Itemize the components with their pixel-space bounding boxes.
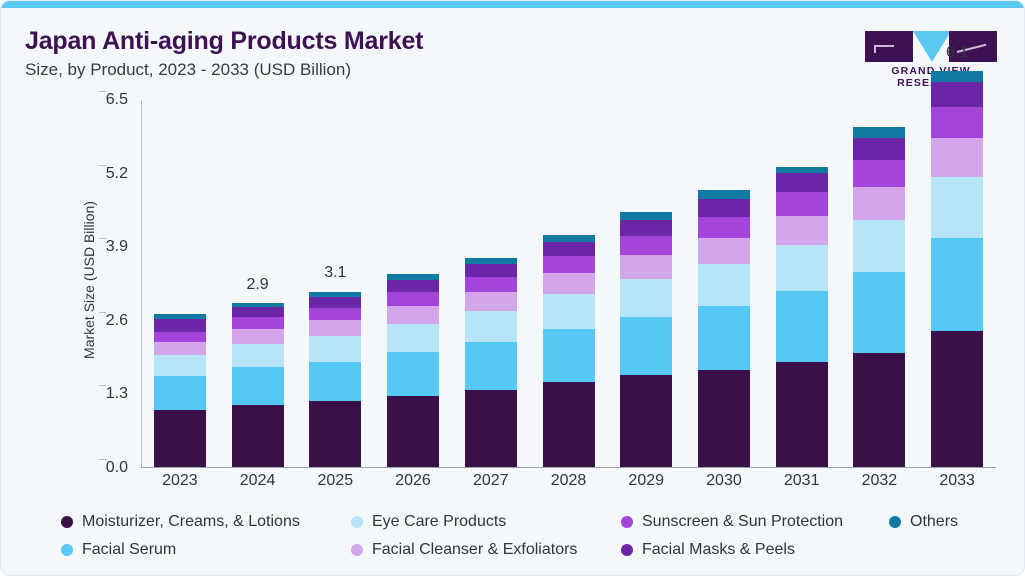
y-axis-tick-label: 5.2 <box>106 165 141 183</box>
x-axis-tick-label: 2026 <box>395 472 431 490</box>
bar-stack[interactable] <box>776 167 828 467</box>
bar-segment[interactable] <box>387 292 439 306</box>
top-accent-bar <box>1 1 1025 8</box>
bar-segment[interactable] <box>543 256 595 273</box>
chart-card: Japan Anti-aging Products Market Size, b… <box>0 0 1025 576</box>
bar-segment[interactable] <box>309 336 361 361</box>
y-axis-tick-mark <box>99 459 106 460</box>
bar-segment[interactable] <box>232 405 284 467</box>
bar-segment[interactable] <box>776 216 828 245</box>
x-axis-tick-label: 2033 <box>939 472 975 490</box>
bar-value-label: 2.9 <box>246 276 268 294</box>
bar-segment[interactable] <box>853 220 905 273</box>
x-axis-line <box>141 467 996 468</box>
x-axis-tick-label: 2030 <box>706 472 742 490</box>
bar-segment[interactable] <box>154 355 206 377</box>
bar-segment[interactable] <box>853 127 905 138</box>
bar-value-label: 6.1 <box>946 44 968 62</box>
bar-segment[interactable] <box>853 187 905 220</box>
bar-segment[interactable] <box>465 292 517 311</box>
x-axis-tick-label: 2023 <box>162 472 198 490</box>
bar-segment[interactable] <box>620 236 672 255</box>
bar-segment[interactable] <box>620 317 672 375</box>
bar-stack[interactable] <box>698 190 750 467</box>
legend-swatch-icon <box>889 516 901 528</box>
bar-segment[interactable] <box>931 107 983 138</box>
bar-stack[interactable] <box>309 292 361 467</box>
y-axis-tick-label: 1.3 <box>106 385 141 403</box>
legend-label: Facial Serum <box>82 541 176 559</box>
bar-segment[interactable] <box>931 82 983 107</box>
bar-segment[interactable] <box>154 332 206 342</box>
bar-stack[interactable] <box>232 303 284 467</box>
bar-value-label: 3.1 <box>324 264 346 282</box>
y-axis-tick-mark <box>99 165 106 166</box>
bar-segment[interactable] <box>309 362 361 402</box>
x-axis-tick-label: 2029 <box>628 472 664 490</box>
bar-segment[interactable] <box>698 217 750 238</box>
legend-swatch-icon <box>61 516 73 528</box>
bar-segment[interactable] <box>309 297 361 308</box>
bar-stack[interactable] <box>853 127 905 467</box>
page-subtitle: Size, by Product, 2023 - 2033 (USD Billi… <box>25 60 351 80</box>
y-axis-tick-label: 3.9 <box>106 238 141 256</box>
y-axis-tick-label: 2.6 <box>106 312 141 330</box>
bar-segment[interactable] <box>465 311 517 342</box>
bar-stack[interactable] <box>620 212 672 467</box>
bar-segment[interactable] <box>232 317 284 329</box>
bar-segment[interactable] <box>853 272 905 352</box>
bar-segment[interactable] <box>698 199 750 217</box>
bar-segment[interactable] <box>931 238 983 331</box>
bar-segment[interactable] <box>776 291 828 362</box>
bar-segment[interactable] <box>931 138 983 176</box>
legend-swatch-icon <box>61 544 73 556</box>
chart-legend: Moisturizer, Creams, & LotionsEye Care P… <box>1 503 1025 565</box>
bar-segment[interactable] <box>543 242 595 256</box>
bar-segment[interactable] <box>465 390 517 467</box>
y-axis-tick-mark <box>99 238 106 239</box>
bar-segment[interactable] <box>620 212 672 219</box>
bar-segment[interactable] <box>620 220 672 236</box>
legend-label: Sunscreen & Sun Protection <box>642 513 843 531</box>
page-title: Japan Anti-aging Products Market <box>25 27 423 56</box>
legend-item[interactable]: Facial Serum <box>61 541 176 559</box>
logo-marks <box>856 31 1006 63</box>
legend-item[interactable]: Sunscreen & Sun Protection <box>621 513 843 531</box>
legend-label: Moisturizer, Creams, & Lotions <box>82 513 300 531</box>
x-axis-tick-label: 2027 <box>473 472 509 490</box>
bar-segment[interactable] <box>387 306 439 324</box>
bar-segment[interactable] <box>931 177 983 239</box>
chart-header: Japan Anti-aging Products Market Size, b… <box>1 8 1025 86</box>
legend-swatch-icon <box>621 544 633 556</box>
bar-segment[interactable] <box>387 396 439 467</box>
legend-item[interactable]: Moisturizer, Creams, & Lotions <box>61 513 300 531</box>
y-axis-tick-label: 6.5 <box>106 91 141 109</box>
legend-swatch-icon <box>351 544 363 556</box>
legend-swatch-icon <box>621 516 633 528</box>
legend-label: Others <box>910 513 958 531</box>
x-axis-tick-label: 2028 <box>551 472 587 490</box>
bar-segment[interactable] <box>387 324 439 352</box>
bar-segment[interactable] <box>154 342 206 355</box>
bar-segment[interactable] <box>776 362 828 467</box>
y-axis-title: Market Size (USD Billion) <box>81 180 97 380</box>
y-axis-line <box>141 100 142 468</box>
bar-segment[interactable] <box>543 235 595 242</box>
legend-label: Eye Care Products <box>372 513 506 531</box>
legend-item[interactable]: Facial Cleanser & Exfoliators <box>351 541 577 559</box>
axis-area: 0.01.32.63.95.26.5 2.93.16.1 20232024202… <box>141 100 996 468</box>
bar-segment[interactable] <box>154 319 206 332</box>
bar-segment[interactable] <box>698 190 750 200</box>
bar-segment[interactable] <box>543 382 595 467</box>
bar-segment[interactable] <box>776 192 828 215</box>
chart-plot-area: Market Size (USD Billion) 0.01.32.63.95.… <box>1 86 1025 501</box>
bar-segment[interactable] <box>387 352 439 396</box>
logo-block-left-icon <box>865 31 913 62</box>
bar-segment[interactable] <box>620 375 672 467</box>
bar-segment[interactable] <box>776 245 828 291</box>
bar-segment[interactable] <box>853 353 905 467</box>
bar-segment[interactable] <box>154 410 206 467</box>
legend-item[interactable]: Facial Masks & Peels <box>621 541 795 559</box>
y-axis-tick-mark <box>99 385 106 386</box>
bar-segment[interactable] <box>931 331 983 467</box>
y-axis-tick-label: 0.0 <box>106 459 141 477</box>
bar-segment[interactable] <box>154 376 206 409</box>
bar-segment[interactable] <box>543 273 595 295</box>
bar-segment[interactable] <box>698 264 750 306</box>
bar-segment[interactable] <box>309 320 361 336</box>
bar-segment[interactable] <box>543 329 595 382</box>
bar-stack[interactable] <box>154 314 206 467</box>
bar-segment[interactable] <box>309 401 361 467</box>
bar-segment[interactable] <box>309 308 361 320</box>
bar-segment[interactable] <box>620 255 672 279</box>
legend-swatch-icon <box>351 516 363 528</box>
x-axis-tick-label: 2032 <box>862 472 898 490</box>
bar-segment[interactable] <box>387 280 439 292</box>
bar-stack[interactable] <box>931 71 983 467</box>
bar-segment[interactable] <box>620 279 672 317</box>
bar-segment[interactable] <box>232 329 284 344</box>
x-axis-tick-label: 2024 <box>240 472 276 490</box>
bar-segment[interactable] <box>232 307 284 317</box>
legend-label: Facial Masks & Peels <box>642 541 795 559</box>
legend-label: Facial Cleanser & Exfoliators <box>372 541 577 559</box>
bar-segment[interactable] <box>232 367 284 404</box>
bar-segment[interactable] <box>465 264 517 277</box>
bar-segment[interactable] <box>698 370 750 467</box>
bar-segment[interactable] <box>931 71 983 82</box>
legend-item[interactable]: Eye Care Products <box>351 513 506 531</box>
x-axis-tick-label: 2031 <box>784 472 820 490</box>
bar-stack[interactable] <box>465 258 517 467</box>
legend-item[interactable]: Others <box>889 513 958 531</box>
bar-segment[interactable] <box>776 173 828 192</box>
bar-stack[interactable] <box>543 235 595 467</box>
y-axis-tick-mark <box>99 312 106 313</box>
bar-stack[interactable] <box>387 274 439 467</box>
bar-segment[interactable] <box>543 294 595 329</box>
bar-segment[interactable] <box>232 344 284 368</box>
x-axis-tick-label: 2025 <box>318 472 354 490</box>
bar-segment[interactable] <box>465 277 517 292</box>
bar-segment[interactable] <box>465 342 517 390</box>
bar-segment[interactable] <box>698 306 750 370</box>
bar-segment[interactable] <box>698 238 750 264</box>
bar-segment[interactable] <box>853 160 905 187</box>
bar-segment[interactable] <box>853 138 905 160</box>
y-axis-tick-mark <box>99 91 106 92</box>
